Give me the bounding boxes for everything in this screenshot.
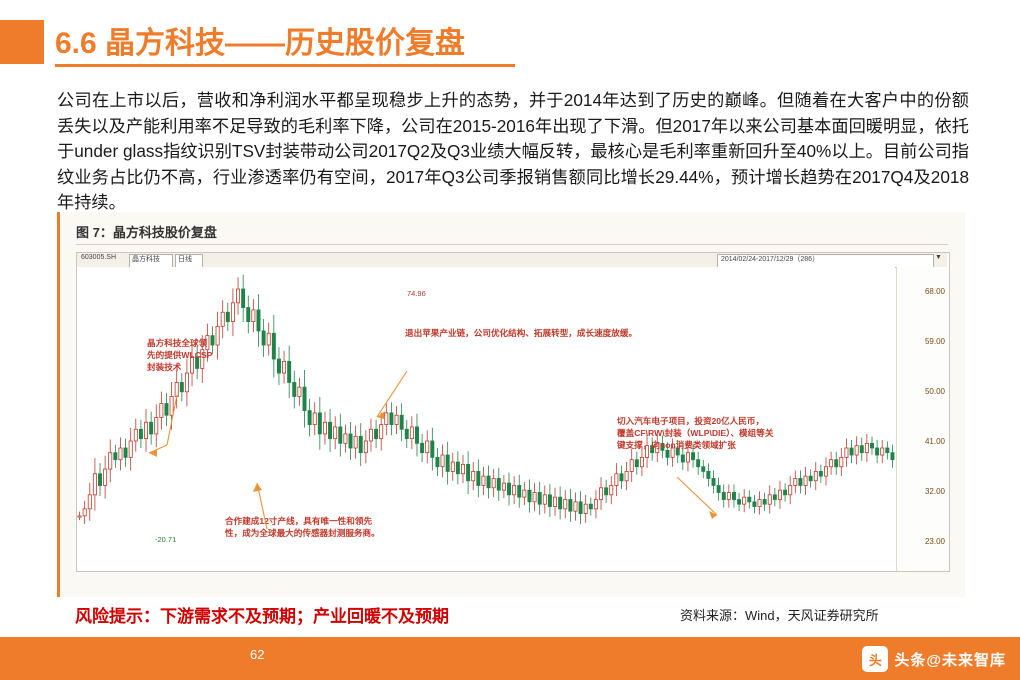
chart-stock-name[interactable]: 晶方科技 xyxy=(132,254,160,264)
watermark: 头 头条@未来智库 xyxy=(862,646,1006,672)
title-accent-block xyxy=(0,20,44,64)
low-price-label: -20.71 xyxy=(155,535,176,544)
chart-caption: 图 7：晶方科技股价复盘 xyxy=(76,222,217,241)
annotation-wlcsp: 晶方科技全球领 先的提供WLCSP 封装技术 xyxy=(147,337,257,373)
page-number: 62 xyxy=(250,647,264,662)
annotation-12inch-line: 合作建成12寸产线，具有唯一性和领先 性，成为全球最大的传感器封测服务商。 xyxy=(225,515,465,539)
chart-period[interactable]: 日线 xyxy=(178,254,192,264)
price-tick: 32.00 xyxy=(925,487,945,496)
body-paragraph: 公司在上市以后，营收和净利润水平都呈现稳步上升的态势，并于2014年达到了历史的… xyxy=(57,88,969,216)
title-underline xyxy=(55,64,515,67)
risk-note: 风险提示：下游需求不及预期；产业回暖不及预期 xyxy=(75,602,449,627)
chart-caption-divider xyxy=(76,244,948,245)
chart-date-range: 2014/02/24-2017/12/29（286） xyxy=(721,254,819,264)
chart-code: 603005.SH xyxy=(81,254,116,261)
source-note: 资料来源：Wind，天风证券研究所 xyxy=(680,605,879,624)
price-axis: 68.00 59.00 50.00 41.00 32.00 23.00 xyxy=(896,267,949,571)
watermark-text: 头条@未来智库 xyxy=(894,649,1006,670)
peak-price-label: 74.96 xyxy=(407,289,426,298)
chevron-down-icon[interactable]: ▼ xyxy=(935,254,942,261)
price-tick: 50.00 xyxy=(925,387,945,396)
price-tick: 59.00 xyxy=(925,337,945,346)
annotation-auto-electronics: 切入汽车电子项目，投资20亿人民币， 覆盖CF\RW\封装（WLP\DIE）、模… xyxy=(617,415,852,451)
chart-card: 图 7：晶方科技股价复盘 603005.SH 晶方科技 日线 2014/02/2… xyxy=(57,212,965,597)
annotation-apple-exit: 退出苹果产业链，公司优化结构、拓展转型，成长速度放缓。 xyxy=(405,327,685,339)
price-tick: 41.00 xyxy=(925,437,945,446)
chart-header-bar: 603005.SH 晶方科技 日线 2014/02/24-2017/12/29（… xyxy=(77,253,947,268)
price-tick: 23.00 xyxy=(925,537,945,546)
slide-title-bar: 6.6 晶方科技——历史股价复盘 xyxy=(0,20,1020,68)
price-tick: 68.00 xyxy=(925,287,945,296)
page-title: 6.6 晶方科技——历史股价复盘 xyxy=(55,18,465,62)
watermark-logo: 头 xyxy=(862,646,888,672)
stock-chart: 603005.SH 晶方科技 日线 2014/02/24-2017/12/29（… xyxy=(76,252,950,572)
